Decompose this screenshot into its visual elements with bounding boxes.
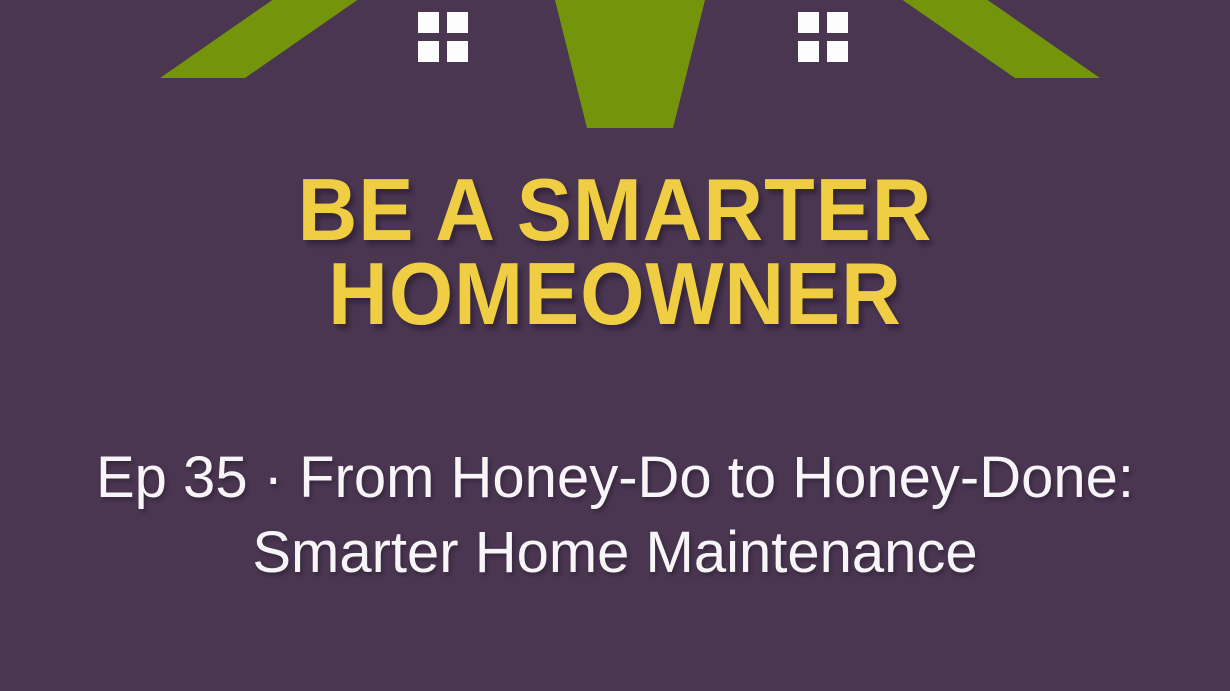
podcast-cover-art: BE A SMARTER HOMEOWNER Ep 35 · From Hone… <box>0 0 1230 691</box>
roof-slope-right-outer <box>845 0 1100 78</box>
window-pane-bottom-left <box>418 41 439 62</box>
show-title: BE A SMARTER HOMEOWNER <box>0 168 1230 336</box>
window-group-left <box>418 12 468 62</box>
roof-slope-right-inner <box>630 0 715 128</box>
window-pane-top-left <box>798 12 819 33</box>
show-title-line-1: BE A SMARTER <box>37 168 1193 252</box>
roof-slope-left-outer <box>160 0 415 78</box>
window-pane-top-left <box>418 12 439 33</box>
window-pane-bottom-right <box>827 41 848 62</box>
episode-title: Ep 35 · From Honey-Do to Honey-Done: Sma… <box>0 440 1230 590</box>
roofline-house-logo <box>0 0 1230 140</box>
window-pane-bottom-left <box>798 41 819 62</box>
window-pane-top-right <box>447 12 468 33</box>
episode-title-line-1: Ep 35 · From Honey-Do to Honey-Done: <box>0 440 1230 515</box>
roof-slope-left-inner <box>545 0 630 128</box>
window-pane-top-right <box>827 12 848 33</box>
window-group-right <box>798 12 848 62</box>
window-pane-bottom-right <box>447 41 468 62</box>
episode-title-line-2: Smarter Home Maintenance <box>0 515 1230 590</box>
show-title-line-2: HOMEOWNER <box>37 252 1193 336</box>
